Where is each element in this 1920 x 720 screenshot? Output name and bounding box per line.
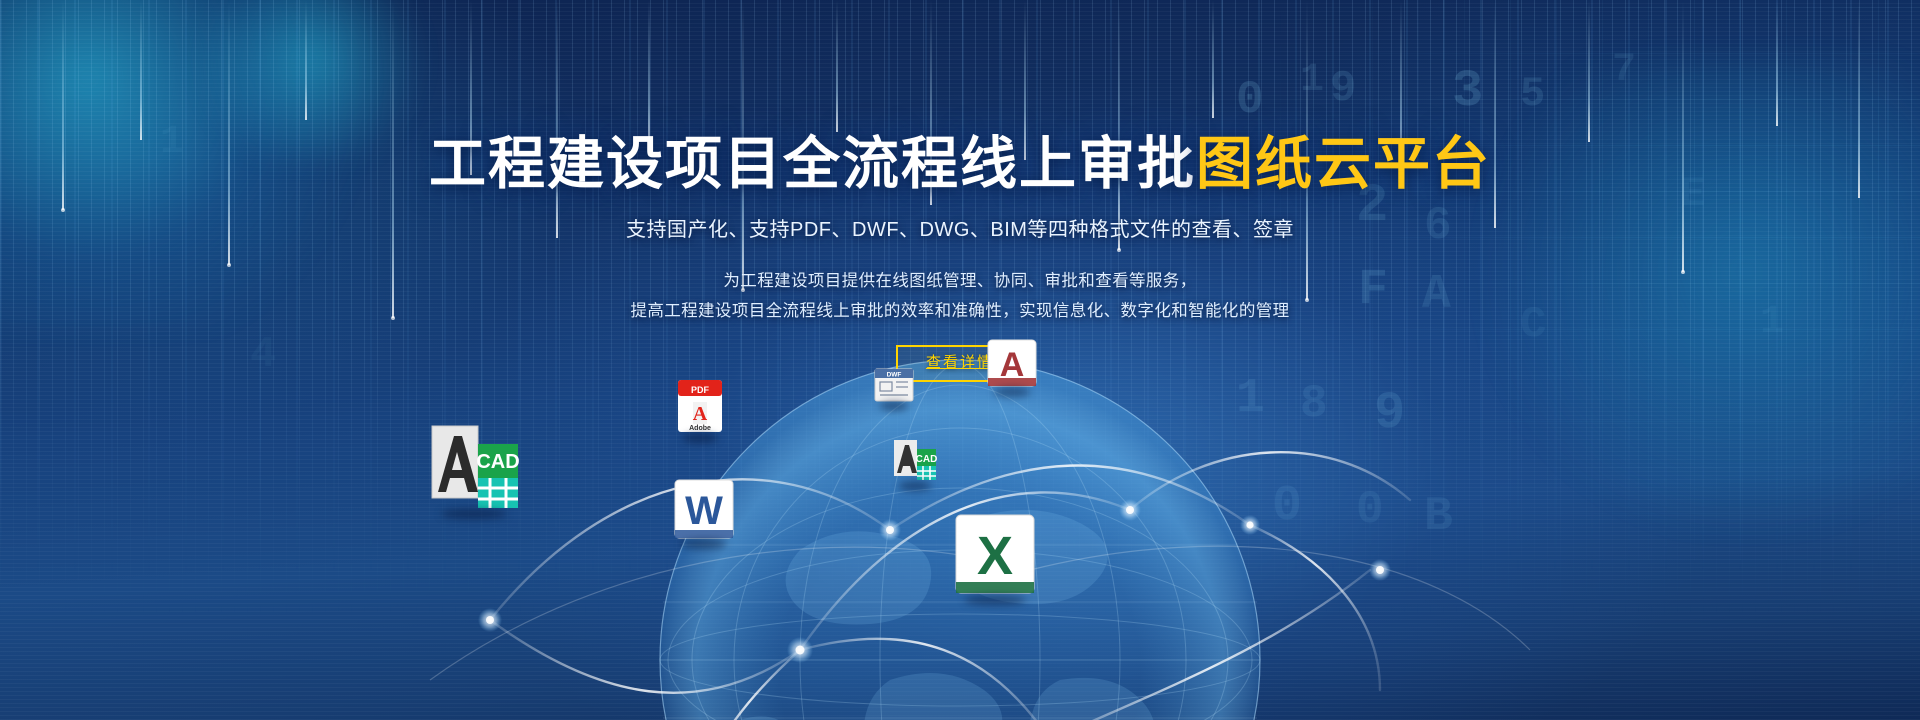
page-description: 为工程建设项目提供在线图纸管理、协同、审批和查看等服务， 提高工程建设项目全流程… — [0, 266, 1920, 326]
title-highlight-part: 图纸云平台 — [1196, 132, 1491, 196]
description-line-1: 为工程建设项目提供在线图纸管理、协同、审批和查看等服务， — [0, 266, 1920, 296]
excel-icon[interactable]: X — [952, 512, 1038, 596]
svg-text:A: A — [693, 403, 708, 425]
adobe-label: Adobe — [689, 425, 711, 432]
cta-row: 查看详情 — [0, 345, 1920, 382]
excel-glyph: X — [952, 512, 1038, 596]
autocad-small-label: CAD — [916, 454, 938, 465]
description-line-2: 提高工程建设项目全流程线上审批的效率和准确性，实现信息化、数字化和智能化的管理 — [0, 296, 1920, 326]
title-white-part: 工程建设项目全流程线上审批 — [429, 132, 1196, 196]
icon-shadow — [441, 509, 507, 519]
autocad-small-icon[interactable]: CAD — [892, 438, 938, 482]
icon-shadow — [683, 433, 718, 443]
autocad-small-glyph: CAD — [892, 438, 938, 482]
word-glyph: W — [672, 478, 736, 540]
access-icon[interactable]: A — [986, 338, 1038, 388]
pdf-icon[interactable]: PDF A Adobe — [676, 378, 724, 434]
page-subtitle: 支持国产化、支持PDF、DWF、DWG、BIM等四种格式文件的查看、签章 — [0, 216, 1920, 244]
hero-banner: 0 1 3 5 9 7 2 6 F A 1 8 9 0 0 B C E 1 1 … — [0, 0, 1920, 720]
excel-label: X — [977, 526, 1013, 586]
word-label: W — [685, 489, 723, 533]
autocad-icon[interactable]: CAD — [428, 422, 520, 510]
word-icon[interactable]: W — [672, 478, 736, 540]
icon-shadow — [964, 595, 1026, 605]
hero-content: 工程建设项目全流程线上审批图纸云平台 支持国产化、支持PDF、DWF、DWG、B… — [0, 0, 1920, 382]
dwf-glyph: DWF — [874, 368, 914, 402]
autocad-label: CAD — [476, 451, 519, 473]
icon-shadow — [681, 539, 727, 549]
pdf-glyph: PDF A Adobe — [676, 378, 724, 434]
autocad-glyph: CAD — [428, 422, 520, 510]
pdf-label: PDF — [691, 385, 710, 395]
icon-shadow — [880, 401, 909, 411]
dwf-icon[interactable]: DWF — [874, 368, 914, 402]
dwf-label: DWF — [887, 372, 902, 379]
page-title: 工程建设项目全流程线上审批图纸云平台 — [0, 133, 1920, 195]
access-glyph: A — [986, 338, 1038, 388]
icon-shadow — [898, 481, 931, 491]
